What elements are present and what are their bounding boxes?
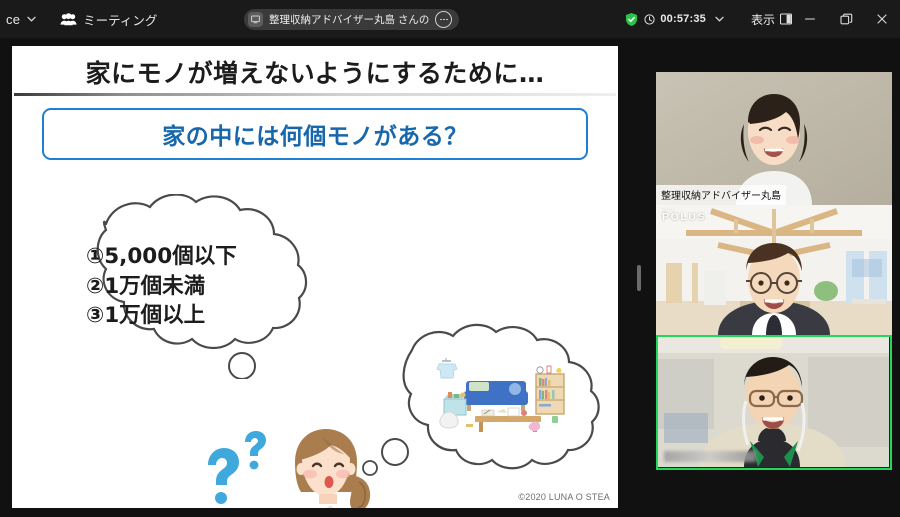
app-name-label: ce (6, 12, 20, 27)
layout-icon (780, 13, 792, 25)
chevron-down-icon[interactable] (711, 10, 729, 28)
elapsed-time-label: 00:57:35 (660, 13, 706, 25)
watermark-label: POLUS (662, 211, 706, 223)
panel-resize-handle[interactable] (630, 38, 648, 517)
answer-option: ①5,000個以下 (86, 242, 237, 272)
meeting-tab-label: ミーティング (83, 10, 157, 29)
blurred-name-overlay (664, 451, 756, 462)
title-divider (14, 93, 616, 96)
page-title: 家にモノが増えないようにするために… (12, 54, 618, 90)
shared-screen-stage: 家にモノが増えないようにするために… 家の中には何個モノがある？ ①5,000個… (0, 38, 630, 517)
answer-option: ②1万個未満 (86, 272, 237, 302)
meeting-tab[interactable]: ミーティング (60, 10, 157, 29)
chevron-down-icon[interactable] (22, 10, 40, 28)
people-icon (60, 13, 77, 26)
question-box: 家の中には何個モノがある？ (42, 108, 588, 160)
meeting-security-timer[interactable]: 00:57:35 (624, 10, 729, 28)
restore-button[interactable] (828, 0, 864, 38)
view-layout-button[interactable]: 表示 (751, 11, 792, 28)
video-watermark: ポラス POLUS (662, 209, 706, 223)
video-tile[interactable]: ポラス POLUS (656, 205, 892, 335)
presentation-slide: 家にモノが増えないようにするために… 家の中には何個モノがある？ ①5,000個… (12, 46, 618, 508)
view-button-label: 表示 (751, 11, 775, 28)
screen-share-icon (248, 12, 263, 27)
copyright-label: ©2020 LUNA O STEA (518, 492, 610, 502)
clock-icon (644, 14, 655, 25)
more-options-icon[interactable] (435, 11, 452, 28)
video-tile-active-speaker[interactable] (656, 335, 892, 470)
shield-check-icon[interactable] (624, 12, 639, 27)
drag-handle-icon (637, 265, 641, 291)
screen-share-label: 整理収納アドバイザー丸島 さんの (269, 12, 429, 27)
titlebar-left-group: ce ミーティング (0, 0, 157, 38)
messy-living-room-illustration (420, 354, 580, 439)
video-tile[interactable]: 整理収納アドバイザー丸島 (656, 72, 892, 205)
participants-video-panel: 整理収納アドバイザー丸島 (648, 38, 900, 517)
question-text: 家の中には何個モノがある？ (162, 117, 468, 151)
window-titlebar: ce ミーティング (0, 0, 900, 38)
answer-option: ③1万個以上 (86, 301, 237, 331)
answer-options: ①5,000個以下 ②1万個未満 ③1万個以上 (86, 242, 237, 331)
screen-share-indicator[interactable]: 整理収納アドバイザー丸島 さんの (244, 9, 459, 30)
minimize-button[interactable] (792, 0, 828, 38)
close-button[interactable] (864, 0, 900, 38)
zoom-meeting-window: ce ミーティング (0, 0, 900, 517)
titlebar-right-group: 00:57:35 表示 (624, 0, 900, 38)
confused-woman-illustration (267, 424, 392, 508)
participant-name-label: 整理収納アドバイザー丸島 (656, 185, 786, 205)
